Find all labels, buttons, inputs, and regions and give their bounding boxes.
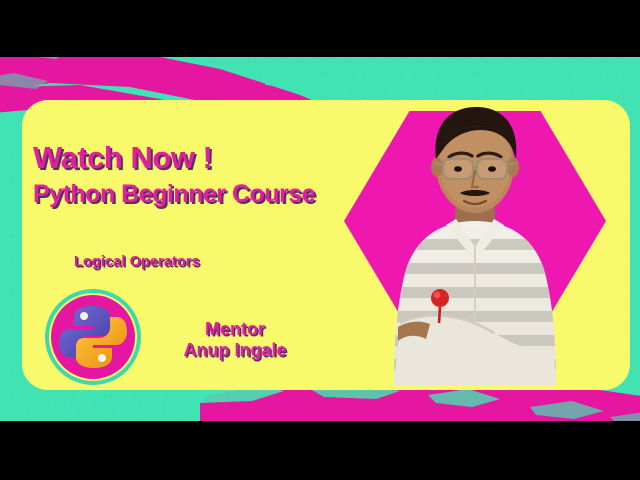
- video-thumbnail-screen: Watch Now ! Python Beginner Course Logic…: [0, 0, 640, 480]
- topic-subtitle: Logical Operators: [74, 254, 200, 270]
- mentor-label: Mentor: [155, 319, 315, 340]
- mentor-name: Anup Ingale: [155, 340, 315, 361]
- headline-watch-now: Watch Now !: [33, 142, 362, 173]
- instructor-portrait: [386, 101, 564, 386]
- instructor-portrait-group: [340, 101, 610, 391]
- letterbox-top: [0, 0, 640, 57]
- thumbnail-canvas: Watch Now ! Python Beginner Course Logic…: [0, 57, 640, 421]
- python-logo: [45, 289, 141, 385]
- mentor-credit: Mentor Anup Ingale: [155, 319, 315, 360]
- headline-block: Watch Now ! Python Beginner Course: [32, 142, 362, 207]
- headline-course-title: Python Beginner Course: [33, 182, 362, 207]
- letterbox-bottom: [0, 421, 640, 480]
